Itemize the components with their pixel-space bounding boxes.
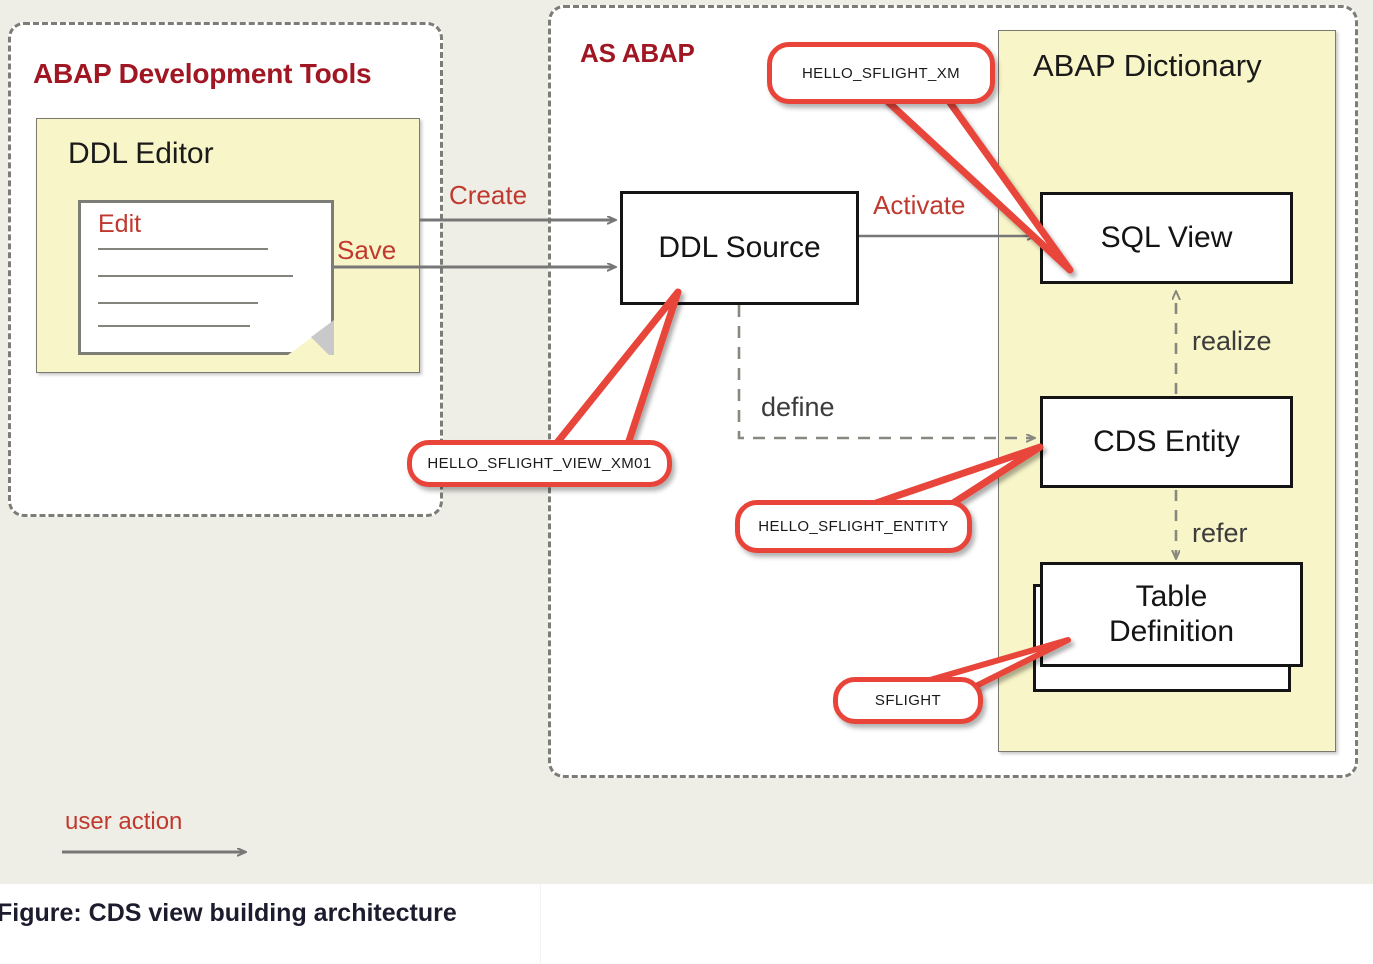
legend-label-user-action: user action <box>65 808 182 836</box>
node-sql-view: SQL View <box>1040 192 1293 284</box>
callout-ddl-source-name: HELLO_SFLIGHT_VIEW_XM01 <box>407 440 672 487</box>
document-text-line <box>98 325 250 327</box>
document-text-line <box>98 248 268 250</box>
label-create: Create <box>449 180 527 211</box>
label-save: Save <box>337 235 396 266</box>
label-realize: realize <box>1192 326 1272 357</box>
panel-title-abap-dictionary: ABAP Dictionary <box>1033 48 1262 84</box>
caption-divider <box>540 884 541 964</box>
node-cds-entity: CDS Entity <box>1040 396 1293 488</box>
label-define: define <box>761 392 835 423</box>
document-text-line <box>98 302 258 304</box>
panel-title-abap-development-tools: ABAP Development Tools <box>33 58 371 90</box>
table-definition-label-line1: Table <box>1136 580 1208 613</box>
callout-table-definition-name: SFLIGHT <box>833 677 983 724</box>
table-definition-label-line2: Definition <box>1109 615 1234 648</box>
ddl-document-icon: Edit <box>78 200 334 355</box>
label-refer: refer <box>1192 518 1248 549</box>
panel-title-ddl-editor: DDL Editor <box>68 137 214 171</box>
edit-label: Edit <box>98 210 141 239</box>
figure-caption: Figure: CDS view building architecture <box>0 899 457 928</box>
diagram-canvas: ABAP Development Tools AS ABAP DDL Edito… <box>0 0 1373 964</box>
node-table-definition: Table Definition <box>1033 562 1303 692</box>
table-definition-face: Table Definition <box>1040 562 1303 667</box>
panel-title-as-abap: AS ABAP <box>580 38 695 69</box>
document-text-line <box>98 275 293 277</box>
callout-sql-view-name: HELLO_SFLIGHT_XM <box>767 42 995 104</box>
node-ddl-source: DDL Source <box>620 191 859 305</box>
callout-cds-entity-name: HELLO_SFLIGHT_ENTITY <box>735 500 972 553</box>
table-definition-label: Table Definition <box>1109 580 1234 650</box>
label-activate: Activate <box>873 190 966 221</box>
